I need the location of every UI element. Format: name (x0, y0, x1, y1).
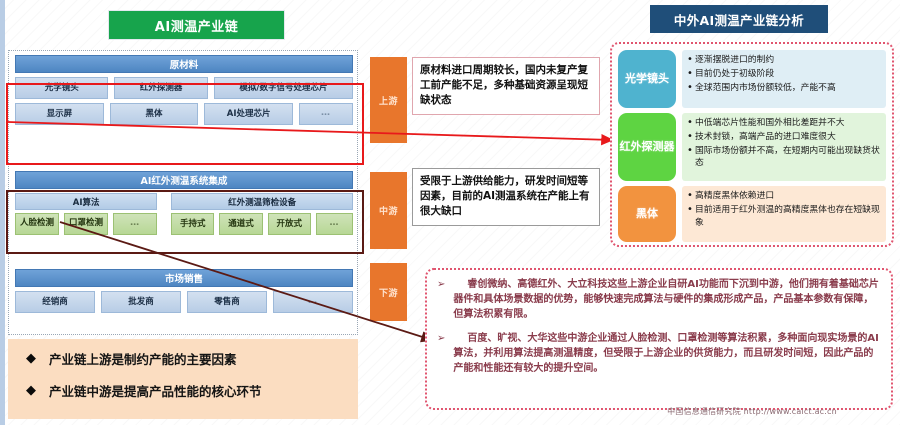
tier-upstream: 原材料 光学镜头 红外探测器 模拟/数字信号处理芯片 显示屏 黑体 AI处理芯片… (9, 55, 359, 125)
chain-cell[interactable]: 人脸检测 (15, 213, 59, 235)
ai-algorithm-group: 人脸检测 口罩检测 … (15, 213, 157, 235)
chain-cell[interactable]: 红外探测器 (114, 77, 207, 99)
bottom-note-text: 百度、旷视、大华这些中游企业通过人脸检测、口罩检测等算法积累，多种面向现实场景的… (453, 331, 881, 376)
tier-upstream-row-2: 显示屏 黑体 AI处理芯片 … (15, 103, 353, 125)
chain-cell-more[interactable]: … (316, 213, 353, 235)
subheader-ai-algorithm[interactable]: AI算法 (15, 193, 157, 210)
chain-cell[interactable]: 光学镜头 (15, 77, 108, 99)
analysis-row-ir-detector: 红外探测器 中低端芯片性能和国外相比差距并不大 技术封锁，高端产品的进口难度很大… (618, 113, 886, 181)
analysis-point: 目前仍处于初级阶段 (687, 68, 881, 81)
tier-midstream-header: AI红外测温系统集成 (15, 171, 353, 189)
tier-downstream-row: 经销商 批发商 零售商 … (15, 291, 353, 313)
analysis-point: 中低端芯片性能和国外相比差距并不大 (687, 117, 881, 130)
midstream-subheaders: AI算法 红外测温筛检设备 (15, 193, 353, 210)
analysis-tag-ir-detector[interactable]: 红外探测器 (618, 113, 676, 181)
subheader-ir-screening-device[interactable]: 红外测温筛检设备 (171, 193, 353, 210)
chain-cell[interactable]: 通道式 (219, 213, 262, 235)
summary-text: 产业链中游是提高产品性能的核心环节 (49, 381, 262, 400)
chain-cell[interactable]: 黑体 (110, 103, 199, 125)
analysis-body-optical-lens: 逐渐摆脱进口的制约 目前仍处于初级阶段 全球范围内市场份额较低，产能不高 (682, 50, 886, 108)
diamond-bullet-icon: ◆ (26, 384, 36, 397)
ir-device-group: 手持式 通道式 开放式 … (171, 213, 353, 235)
chain-cell[interactable]: 模拟/数字信号处理芯片 (214, 77, 353, 99)
note-upstream: 原材料进口周期较长，国内未复产复工前产能不足，多种基础资源呈现短缺状态 (412, 57, 600, 115)
bottom-note-paragraph: ➢ 百度、旷视、大华这些中游企业通过人脸检测、口罩检测等算法积累，多种面向现实场… (437, 331, 881, 376)
analysis-point: 技术封锁，高端产品的进口难度很大 (687, 131, 881, 144)
analysis-point: 国际市场份额并不高，在短期内可能出现缺货状态 (687, 145, 881, 171)
tier-midstream: AI红外测温系统集成 AI算法 红外测温筛检设备 人脸检测 口罩检测 … 手持式… (9, 171, 359, 235)
chain-cell-more[interactable]: … (273, 291, 353, 313)
tier-upstream-header: 原材料 (15, 55, 353, 73)
chain-cell[interactable]: 开放式 (268, 213, 311, 235)
arrow-bullet-icon: ➢ (437, 331, 449, 376)
arrow-bullet-icon: ➢ (437, 277, 449, 322)
tier-downstream: 市场销售 经销商 批发商 零售商 … (9, 269, 359, 313)
summary-line: ◆ 产业链上游是制约产能的主要因素 (26, 349, 358, 368)
industry-chain-panel: 原材料 光学镜头 红外探测器 模拟/数字信号处理芯片 显示屏 黑体 AI处理芯片… (8, 50, 358, 335)
bottom-analysis-note: ➢ 睿创微纳、高德红外、大立科技这些上游企业自研AI功能而下沉到中游，他们拥有着… (425, 268, 893, 410)
tier-upstream-row-1: 光学镜头 红外探测器 模拟/数字信号处理芯片 (15, 77, 353, 99)
analysis-tag-optical-lens[interactable]: 光学镜头 (618, 50, 676, 108)
chain-cell[interactable]: 经销商 (15, 291, 95, 313)
chain-cell[interactable]: 显示屏 (15, 103, 104, 125)
chain-cell[interactable]: 零售商 (187, 291, 267, 313)
source-credit: 中国信息通信研究院 http://www.caict.ac.cn (612, 406, 892, 417)
diamond-bullet-icon: ◆ (26, 352, 36, 365)
chain-cell[interactable]: 口罩检测 (64, 213, 108, 235)
left-edge-bar (0, 0, 5, 425)
chain-cell-more[interactable]: … (299, 103, 353, 125)
analysis-point: 逐渐摆脱进口的制约 (687, 54, 881, 67)
summary-text: 产业链上游是制约产能的主要因素 (49, 349, 237, 368)
midstream-cells-row: 人脸检测 口罩检测 … 手持式 通道式 开放式 … (15, 213, 353, 235)
right-panel-title: 中外AI测温产业链分析 (650, 5, 828, 33)
chain-cell-more[interactable]: … (113, 213, 157, 235)
analysis-body-ir-detector: 中低端芯片性能和国外相比差距并不大 技术封锁，高端产品的进口难度很大 国际市场份… (682, 113, 886, 181)
analysis-tag-blackbody[interactable]: 黑体 (618, 186, 676, 242)
summary-box: ◆ 产业链上游是制约产能的主要因素 ◆ 产业链中游是提高产品性能的核心环节 (8, 339, 358, 419)
analysis-body-blackbody: 高精度黑体依赖进口 目前适用于红外测温的高精度黑体也存在短缺现象 (682, 186, 886, 242)
analysis-point: 目前适用于红外测温的高精度黑体也存在短缺现象 (687, 204, 881, 230)
summary-line: ◆ 产业链中游是提高产品性能的核心环节 (26, 381, 358, 400)
chain-cell[interactable]: 手持式 (171, 213, 214, 235)
chain-cell[interactable]: 批发商 (101, 291, 181, 313)
bottom-note-paragraph: ➢ 睿创微纳、高德红外、大立科技这些上游企业自研AI功能而下沉到中游，他们拥有着… (437, 277, 881, 322)
slide-canvas: AI测温产业链 中外AI测温产业链分析 原材料 光学镜头 红外探测器 模拟/数字… (0, 0, 900, 425)
tier-label-midstream[interactable]: 中游 (370, 172, 407, 249)
analysis-row-blackbody: 黑体 高精度黑体依赖进口 目前适用于红外测温的高精度黑体也存在短缺现象 (618, 186, 886, 242)
left-panel-title: AI测温产业链 (108, 10, 285, 40)
analysis-point: 全球范围内市场份额较低，产能不高 (687, 82, 881, 95)
tier-downstream-header: 市场销售 (15, 269, 353, 287)
analysis-point: 高精度黑体依赖进口 (687, 190, 881, 203)
note-midstream: 受限于上游供给能力，研发时间短等因素，目前的AI测温系统在产能上有很大缺口 (412, 168, 600, 226)
tier-label-upstream[interactable]: 上游 (370, 57, 407, 143)
bottom-note-text: 睿创微纳、高德红外、大立科技这些上游企业自研AI功能而下沉到中游，他们拥有着基础… (453, 277, 881, 322)
analysis-row-optical-lens: 光学镜头 逐渐摆脱进口的制约 目前仍处于初级阶段 全球范围内市场份额较低，产能不… (618, 50, 886, 108)
tier-label-downstream[interactable]: 下游 (370, 263, 407, 321)
chain-cell[interactable]: AI处理芯片 (204, 103, 293, 125)
analysis-panel: 光学镜头 逐渐摆脱进口的制约 目前仍处于初级阶段 全球范围内市场份额较低，产能不… (610, 42, 894, 247)
